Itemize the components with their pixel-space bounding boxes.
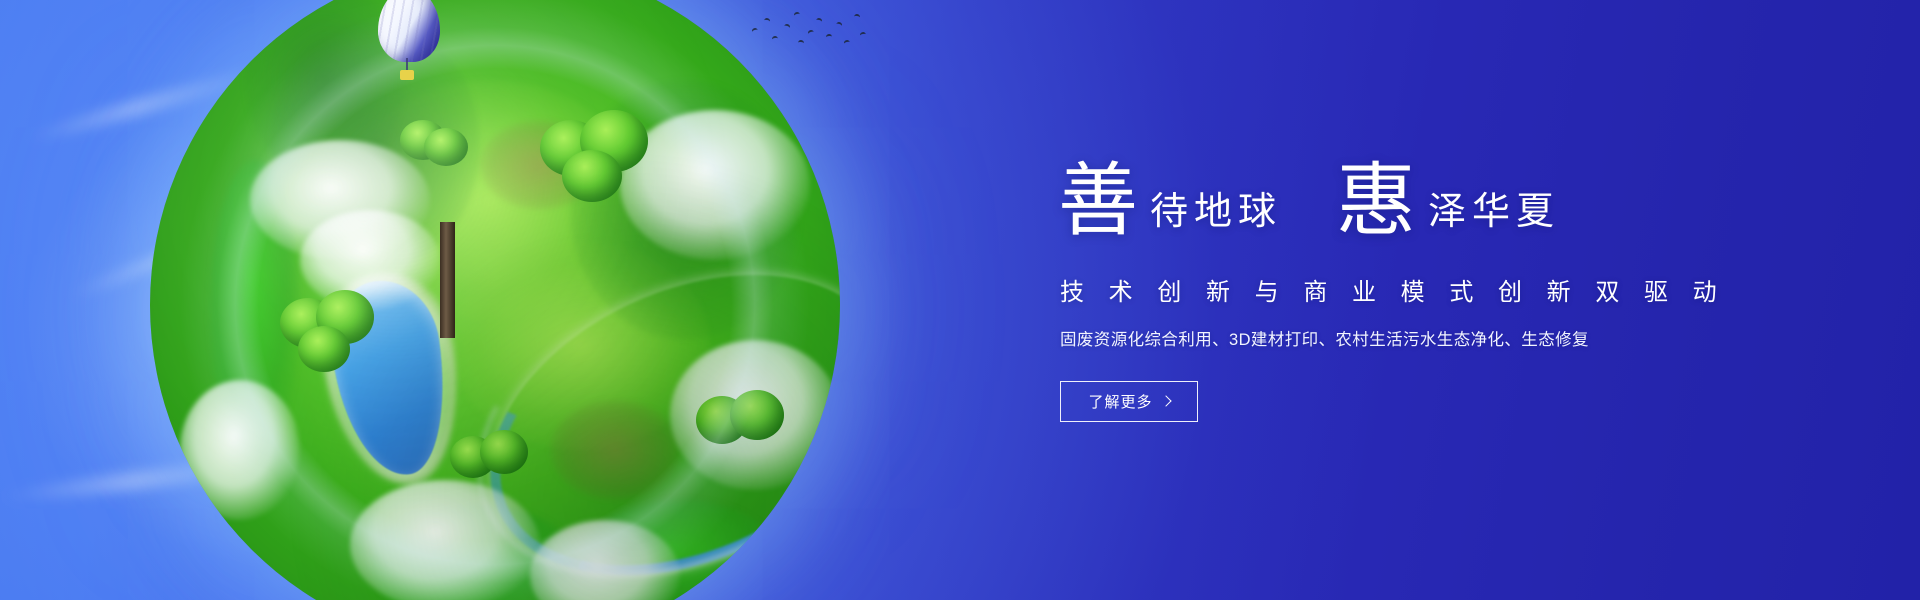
learn-more-button[interactable]: 了解更多 <box>1060 381 1198 422</box>
birds-icon <box>750 10 870 50</box>
cloud-icon <box>300 210 440 310</box>
cloud-icon <box>350 480 540 600</box>
globe-illustration <box>150 0 840 600</box>
chevron-right-icon <box>1160 395 1171 406</box>
terrain-patch <box>580 500 780 600</box>
hot-air-balloon-icon <box>378 0 440 84</box>
cloud-icon <box>670 340 840 490</box>
lake-icon <box>323 273 457 482</box>
cloud-icon <box>620 110 810 260</box>
tree-icon <box>48 236 218 426</box>
terrain-patch <box>450 240 710 450</box>
banner-subtitle: 技 术 创 新 与 商 业 模 式 创 新 双 驱 动 <box>1060 272 1726 307</box>
headline-lead-char-2: 惠 <box>1336 167 1416 236</box>
tree-icon <box>450 430 530 500</box>
terrain-patch <box>370 505 580 600</box>
headline-lead-char-1: 善 <box>1058 167 1138 236</box>
banner-content: 善 待地球 惠 泽华夏 技 术 创 新 与 商 业 模 式 创 新 双 驱 动 … <box>1058 0 1758 600</box>
tree-icon <box>440 0 680 104</box>
banner-description: 固废资源化综合利用、3D建材打印、农村生活污水生态净化、生态修复 <box>1060 326 1589 350</box>
terrain-patch <box>550 400 680 500</box>
terrain-patch <box>570 80 800 340</box>
headline-phrase-1: 善 待地球 <box>1058 167 1282 236</box>
headline-phrase-2: 惠 泽华夏 <box>1336 167 1560 236</box>
river-icon <box>443 216 840 600</box>
headline-rest-1: 待地球 <box>1150 192 1282 236</box>
river-highlight <box>427 201 840 600</box>
cloud-icon <box>530 520 680 600</box>
headline: 善 待地球 惠 泽华夏 <box>1058 140 1758 236</box>
learn-more-label: 了解更多 <box>1088 391 1152 412</box>
tree-icon <box>696 390 786 470</box>
cloud-icon <box>250 140 430 260</box>
headline-rest-2: 泽华夏 <box>1428 192 1560 236</box>
hero-banner: 善 待地球 惠 泽华夏 技 术 创 新 与 商 业 模 式 创 新 双 驱 动 … <box>0 0 1920 600</box>
